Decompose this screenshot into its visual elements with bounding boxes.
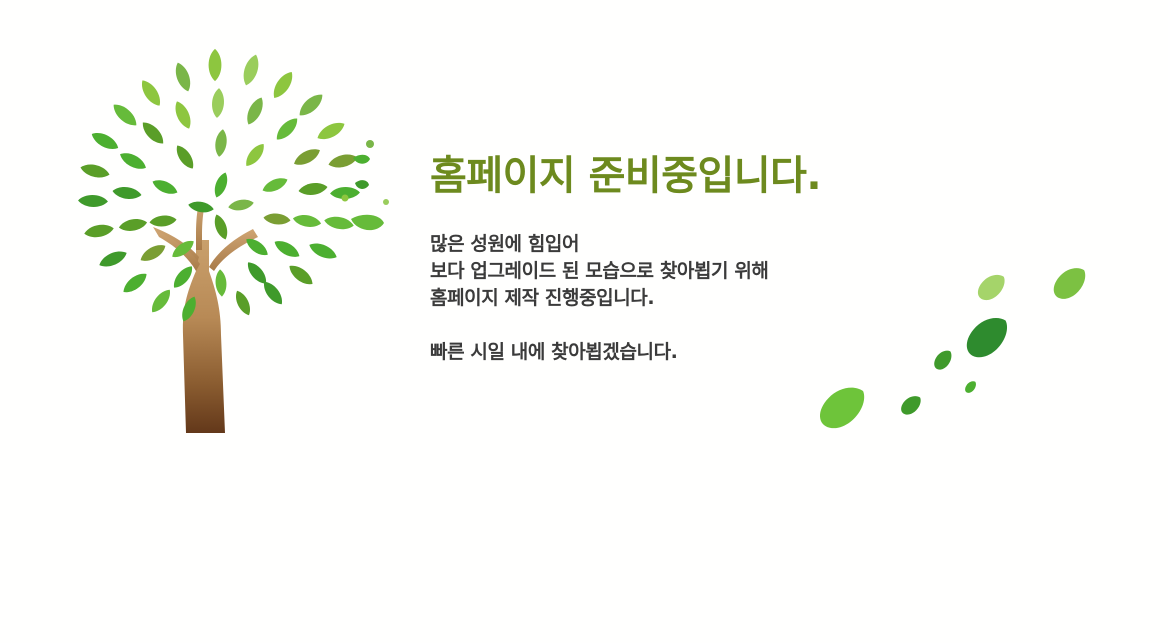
floating-leaf — [975, 273, 1008, 302]
notice-paragraph-gap — [430, 312, 900, 339]
notice-text-block: 홈페이지 준비중입니다. 많은 성원에 힘입어 보다 업그레이드 된 모습으로 … — [430, 152, 900, 366]
under-construction-page: 홈페이지 준비중입니다. 많은 성원에 힘입어 보다 업그레이드 된 모습으로 … — [0, 0, 1168, 643]
notice-line-2: 보다 업그레이드 된 모습으로 찾아뵙기 위해 — [430, 258, 900, 285]
notice-body: 많은 성원에 힘입어 보다 업그레이드 된 모습으로 찾아뵙기 위해 홈페이지 … — [430, 200, 900, 366]
floating-leaf — [931, 349, 956, 372]
floating-leaf — [1050, 266, 1090, 301]
floating-leaf — [816, 385, 869, 430]
floating-leaf — [963, 380, 978, 394]
notice-closing-line: 빠른 시일 내에 찾아뵙겠습니다. — [430, 339, 900, 366]
page-title: 홈페이지 준비중입니다. — [430, 152, 900, 200]
drifting-leaf-small-group — [342, 140, 390, 230]
floating-leaf — [899, 395, 923, 416]
tree-trunk-group — [153, 203, 258, 433]
floating-leaf — [961, 315, 1013, 360]
tree-canopy-group — [78, 49, 360, 324]
leafy-tree-illustration — [55, 35, 400, 445]
notice-line-3: 홈페이지 제작 진행중입니다. — [430, 285, 900, 312]
notice-line-1: 많은 성원에 힘입어 — [430, 231, 900, 258]
